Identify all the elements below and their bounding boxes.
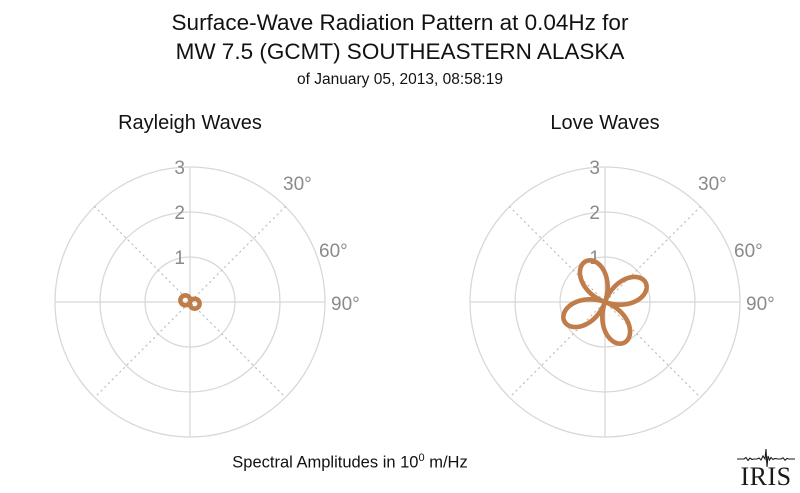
love-polar-plot: 3 2 1 30° 60° 90° [455,140,785,450]
angle-tick-label-30: 30° [698,174,727,195]
angle-tick-label-90: 90° [331,294,360,315]
rayleigh-radiation-pattern [180,295,199,308]
iris-wordmark: IRIS [740,462,791,489]
r-tick-label-3: 3 [174,158,185,179]
iris-logo: IRIS [735,445,797,489]
angle-tick-label-60: 60° [734,241,763,262]
r-tick-label-2: 2 [589,203,600,224]
figure-title-line-1: Surface-Wave Radiation Pattern at 0.04Hz… [0,8,800,37]
r-tick-label-2: 2 [174,203,185,224]
spectral-amplitude-label: Spectral Amplitudes in 100 m/Hz [0,452,700,473]
figure-subtitle: of January 05, 2013, 08:58:19 [0,69,800,91]
love-panel-title: Love Waves [505,112,705,135]
love-angle-tick-labels: 30° 60° 90° [698,174,775,315]
amplitude-label-suffix: m/Hz [425,454,468,472]
rayleigh-r-tick-labels: 3 2 1 [174,158,185,269]
figure-title-line-2: MW 7.5 (GCMT) SOUTHEASTERN ALASKA [0,37,800,66]
amplitude-label-prefix: Spectral Amplitudes in 10 [232,454,418,472]
figure-title-block: Surface-Wave Radiation Pattern at 0.04Hz… [0,8,800,91]
love-r-tick-labels: 3 2 1 [589,158,600,269]
angle-tick-label-60: 60° [319,241,348,262]
rayleigh-polar-plot: 3 2 1 30° 60° 90° [40,140,370,450]
angle-tick-label-90: 90° [746,294,775,315]
r-tick-label-1: 1 [174,248,185,269]
rayleigh-panel-title: Rayleigh Waves [90,112,290,135]
angle-tick-label-30: 30° [283,174,312,195]
r-tick-label-3: 3 [589,158,600,179]
figure-canvas: Surface-Wave Radiation Pattern at 0.04Hz… [0,0,800,493]
rayleigh-angle-tick-labels: 30° 60° 90° [283,174,360,315]
